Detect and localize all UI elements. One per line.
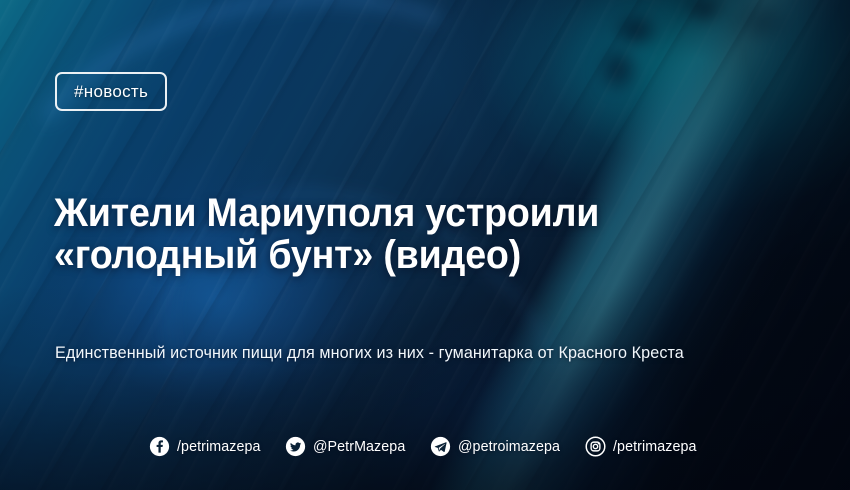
page-title: Жители Мариуполя устроили «голодный бунт… <box>54 192 750 276</box>
category-tag[interactable]: #новость <box>55 72 167 111</box>
twitter-icon <box>285 436 306 457</box>
telegram-icon <box>430 436 451 457</box>
social-link-facebook[interactable]: /petrimazepa <box>149 436 265 457</box>
social-link-telegram[interactable]: @petroimazepa <box>430 436 565 457</box>
news-card: #новость Жители Мариуполя устроили «голо… <box>0 0 850 490</box>
card-content: #новость Жители Мариуполя устроили «голо… <box>0 0 850 490</box>
social-link-twitter[interactable]: @PetrMazepa <box>285 436 410 457</box>
social-link-instagram[interactable]: /petrimazepa <box>585 436 701 457</box>
category-tag-label: #новость <box>74 82 148 102</box>
social-handle: @petroimazepa <box>458 438 560 455</box>
subtitle: Единственный источник пищи для многих из… <box>55 342 777 364</box>
social-handle: /petrimazepa <box>613 438 697 455</box>
social-handle: @PetrMazepa <box>313 438 405 455</box>
facebook-icon <box>149 436 170 457</box>
instagram-icon <box>585 436 606 457</box>
social-handle: /petrimazepa <box>177 438 261 455</box>
social-links-bar: /petrimazepa @PetrMazepa @petroimazepa <box>0 436 850 457</box>
